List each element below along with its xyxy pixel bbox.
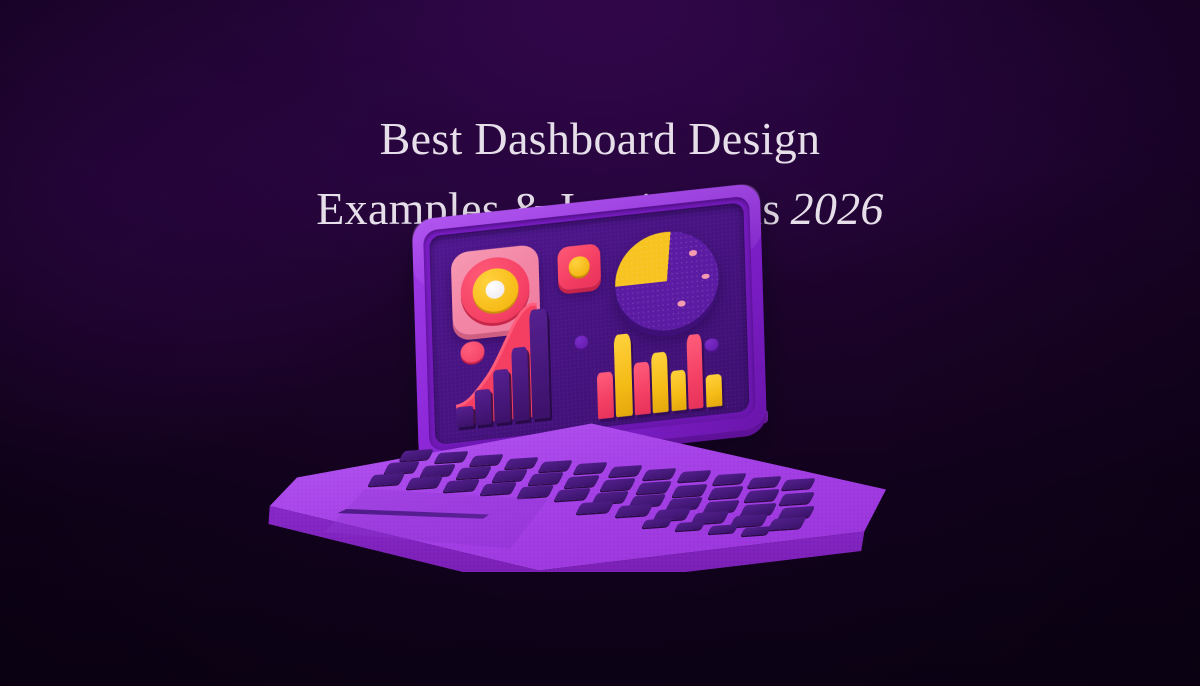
keyboard-key: [608, 465, 643, 477]
laptop-base: [266, 422, 886, 572]
keyboard-key: [599, 478, 635, 491]
laptop-illustration: [252, 196, 952, 596]
keyboard-key: [614, 504, 653, 517]
keyboard-key: [420, 464, 456, 477]
left-bar: [475, 388, 492, 425]
keyboard-key: [747, 476, 782, 488]
left-bar: [529, 308, 550, 419]
keyboard-key: [781, 478, 816, 490]
keyboard-key: [671, 484, 707, 497]
keyboard-key: [779, 492, 815, 505]
keyboard-key: [469, 454, 504, 466]
small-kpi-widget: [557, 243, 601, 290]
left-area-bar-widget: [453, 298, 582, 431]
right-bar: [614, 333, 633, 417]
keyboard-key: [368, 473, 406, 486]
keyboard-key: [554, 488, 592, 501]
keyboard-key: [712, 473, 747, 485]
keyboard-key: [573, 462, 608, 474]
keyboard-key: [528, 472, 564, 485]
left-bar: [511, 346, 530, 421]
left-bar: [493, 368, 511, 423]
right-column-bar-widget: [596, 321, 730, 419]
keyboard-key: [743, 489, 779, 502]
keyboard-key: [563, 475, 599, 488]
keyboard-key: [707, 524, 738, 534]
keyboard-key: [480, 482, 518, 495]
keyboard-key: [434, 451, 469, 463]
keyboard-key: [707, 486, 743, 499]
keyboard-key: [675, 521, 706, 531]
keyboard-key: [635, 481, 671, 494]
keyboard-key: [538, 460, 573, 472]
right-bar: [686, 334, 704, 409]
poster-canvas: Best Dashboard Design Examples & Inspira…: [0, 0, 1200, 686]
keyboard-key: [642, 518, 673, 528]
right-bar: [651, 351, 669, 413]
laptop-screen: [429, 202, 749, 445]
keyboard-key: [517, 485, 555, 498]
keyboard-key: [740, 526, 771, 536]
right-bar: [670, 369, 686, 411]
keyboard-key: [492, 469, 528, 482]
keyboard-key: [442, 479, 480, 492]
keyboard-key: [768, 517, 807, 530]
keyboard-key: [677, 470, 712, 482]
keyboard-key: [399, 449, 434, 461]
small-kpi-dot: [568, 255, 589, 278]
keyboard-key: [504, 457, 539, 469]
right-bar: [597, 371, 614, 419]
keyboard-key: [642, 468, 677, 480]
keyboard-key: [405, 476, 443, 489]
right-bar: [706, 374, 723, 407]
keyboard-key: [456, 466, 492, 479]
right-bar: [634, 362, 651, 415]
keyboard-key: [384, 461, 420, 474]
keyboard-key: [576, 501, 615, 514]
